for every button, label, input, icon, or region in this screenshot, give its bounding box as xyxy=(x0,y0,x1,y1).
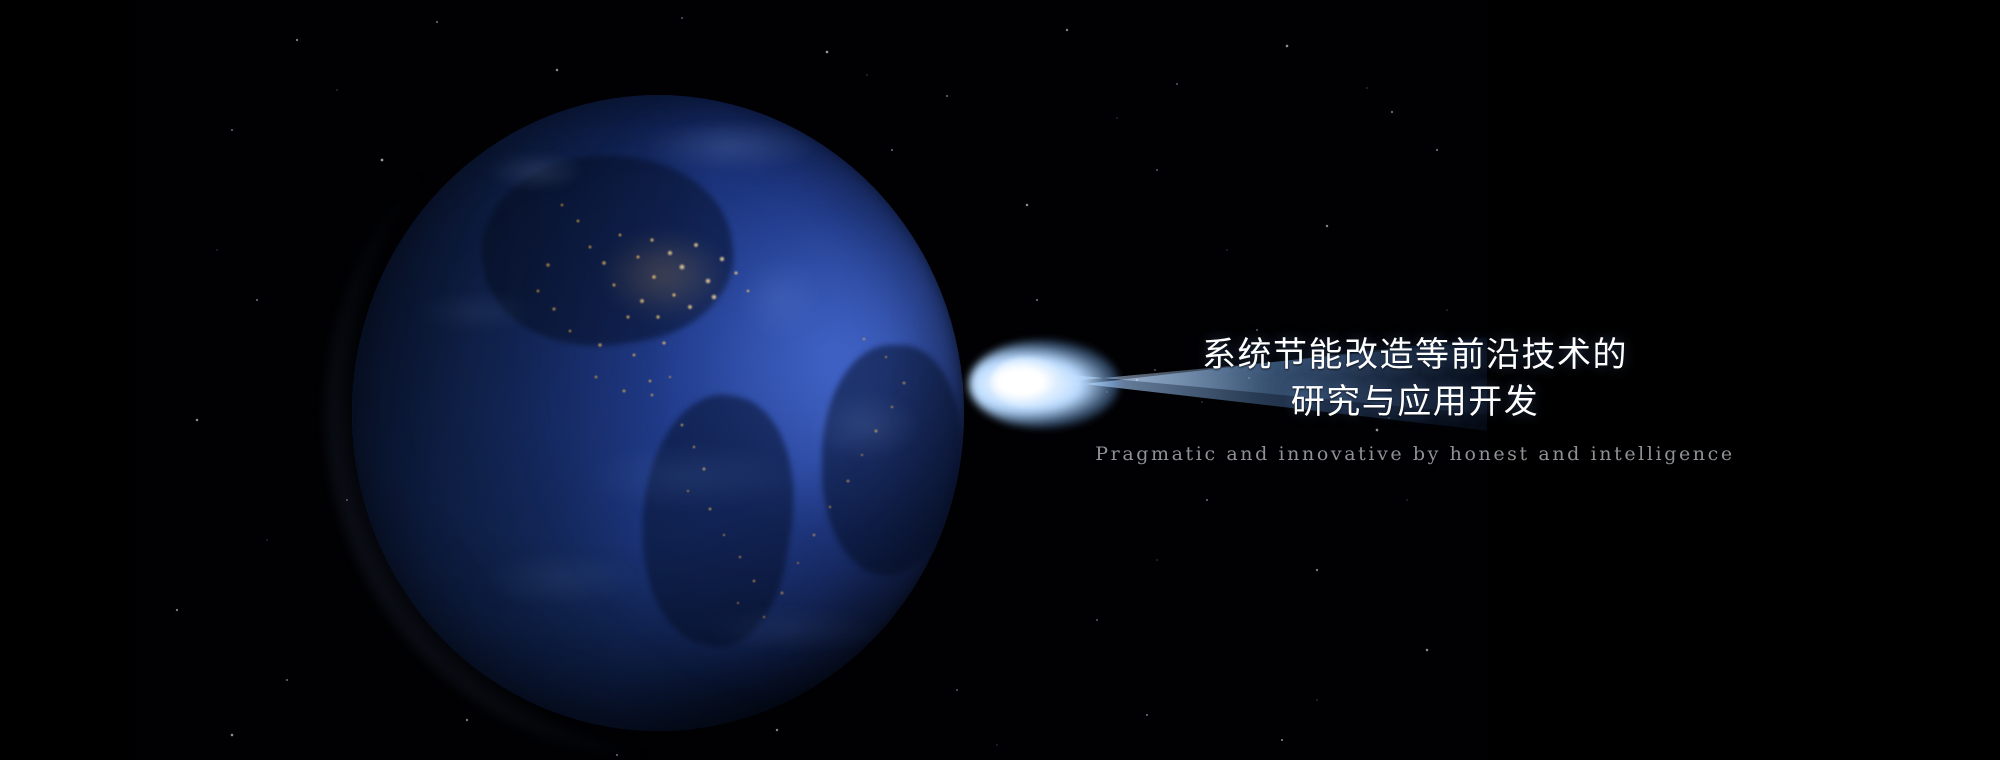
earth-sphere xyxy=(352,95,964,731)
headline-line-2: 研究与应用开发 xyxy=(1050,379,1780,426)
banner-text-block: 系统节能改造等前沿技术的 研究与应用开发 Pragmatic and innov… xyxy=(1050,332,1780,465)
earth-edge-shadow xyxy=(352,95,964,731)
hero-banner: 系统节能改造等前沿技术的 研究与应用开发 Pragmatic and innov… xyxy=(0,0,2000,760)
left-black-bar xyxy=(0,0,137,760)
earth-globe xyxy=(352,95,964,731)
banner-tagline: Pragmatic and innovative by honest and i… xyxy=(1050,443,1780,465)
headline-line-1: 系统节能改造等前沿技术的 xyxy=(1050,332,1780,379)
